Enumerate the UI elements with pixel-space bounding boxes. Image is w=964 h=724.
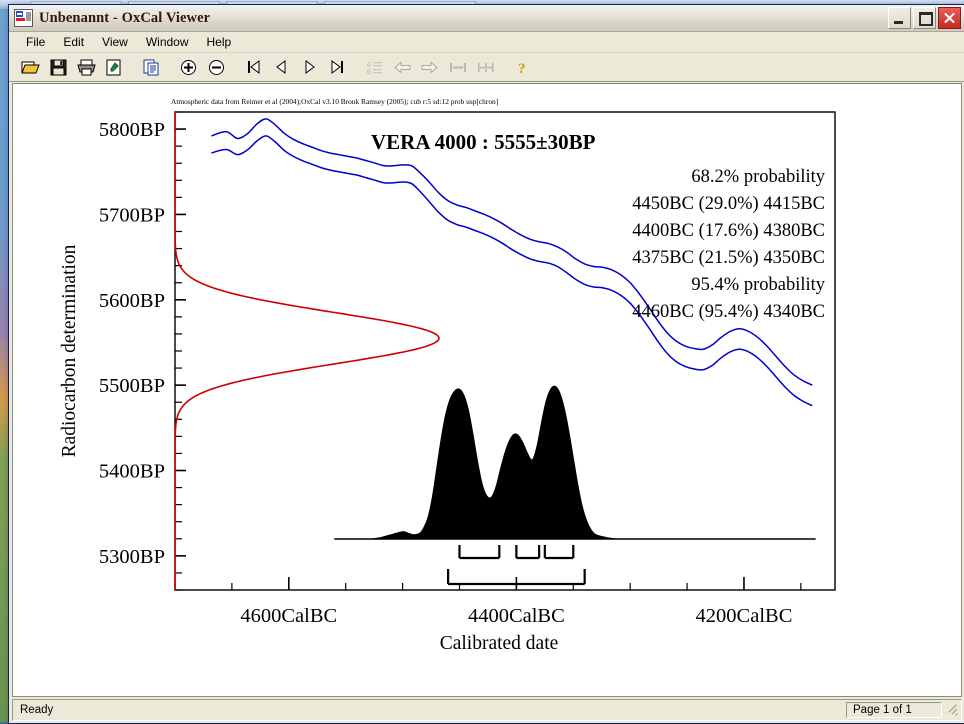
x-axis-tick-label: 4200CalBC [696, 605, 793, 627]
y-axis-tick-label: 5600BP [99, 290, 165, 312]
help-icon: ? [516, 59, 531, 76]
copy-button[interactable] [138, 55, 164, 80]
toolbar: 0 0 [9, 53, 964, 82]
previous-page-button[interactable] [268, 55, 294, 80]
x-axis-title: Calibrated date [440, 633, 559, 654]
minimize-button[interactable] [888, 7, 911, 29]
resize-grip[interactable] [944, 703, 958, 717]
fit-width-button[interactable] [445, 55, 471, 80]
save-button[interactable] [45, 55, 71, 80]
probability-95-header: 95.4% probability [691, 275, 825, 295]
maximize-button[interactable] [913, 7, 936, 29]
zoom-out-icon [208, 59, 225, 76]
probability-68-range-3: 4375BC (21.5%) 4350BC [632, 248, 825, 268]
svg-text:0: 0 [367, 69, 371, 75]
y-axis-tick-label: 5300BP [99, 546, 165, 568]
chart-title: VERA 4000 : 5555±30BP [371, 130, 596, 154]
next-page-icon [302, 59, 317, 75]
menu-window[interactable]: Window [137, 33, 198, 51]
probability-68-range-1: 4450BC (29.0%) 4415BC [632, 194, 825, 214]
zoom-out-button[interactable] [203, 55, 229, 80]
fit-page-button[interactable] [473, 55, 499, 80]
previous-page-icon [274, 59, 289, 75]
first-page-button[interactable] [240, 55, 266, 80]
first-page-icon [246, 59, 261, 75]
x-axis-tick-labels: 4600CalBC4400CalBC4200CalBC [240, 605, 792, 627]
open-folder-icon [21, 59, 40, 76]
status-page-indicator: Page 1 of 1 [846, 702, 942, 718]
oxcal-app-icon [14, 9, 33, 27]
fit-width-icon [449, 61, 467, 74]
open-button[interactable] [17, 55, 43, 80]
y-axis-tick-label: 5700BP [99, 204, 165, 226]
window-title: Unbenannt - OxCal Viewer [39, 10, 210, 27]
svg-text:?: ? [518, 61, 526, 76]
scroll-left-button[interactable] [389, 55, 415, 80]
window-controls [888, 7, 961, 29]
status-message: Ready [13, 703, 846, 717]
menu-help[interactable]: Help [198, 33, 241, 51]
y-axis-title: Radiocarbon determination [59, 244, 80, 457]
print-button[interactable] [73, 55, 99, 80]
table-icon: 0 0 [366, 60, 383, 75]
arrow-left-icon [393, 61, 411, 74]
oxcal-viewer-window: Unbenannt - OxCal Viewer File Edit View … [8, 4, 964, 724]
table-view-button[interactable]: 0 0 [361, 55, 387, 80]
print-icon [77, 59, 96, 76]
close-button[interactable] [938, 7, 961, 29]
zoom-in-button[interactable] [175, 55, 201, 80]
print-preview-icon [106, 59, 122, 76]
oxcal-calibration-chart: Atmospheric data from Reimer et al (2004… [13, 84, 961, 696]
menu-edit[interactable]: Edit [54, 33, 93, 51]
last-page-button[interactable] [324, 55, 350, 80]
oxcal-plot-page: Atmospheric data from Reimer et al (2004… [13, 84, 961, 696]
chart-header-note: Atmospheric data from Reimer et al (2004… [171, 97, 498, 106]
probability-68-range-2: 4400BC (17.6%) 4380BC [632, 221, 825, 241]
fit-page-icon [477, 61, 495, 74]
zoom-in-icon [180, 59, 197, 76]
arrow-right-icon [421, 61, 439, 74]
status-bar: Ready Page 1 of 1 [12, 699, 962, 721]
svg-text:0: 0 [367, 62, 371, 69]
copy-icon [143, 59, 160, 76]
next-page-button[interactable] [296, 55, 322, 80]
y-axis-tick-label: 5800BP [99, 119, 165, 141]
save-floppy-icon [50, 59, 67, 76]
probability-95-range-1: 4460BC (95.4%) 4340BC [632, 302, 825, 322]
y-axis-tick-label: 5400BP [99, 461, 165, 483]
menu-view[interactable]: View [93, 33, 137, 51]
last-page-icon [330, 59, 345, 75]
scroll-right-button[interactable] [417, 55, 443, 80]
probability-68-header: 68.2% probability [691, 167, 825, 187]
print-preview-button[interactable] [101, 55, 127, 80]
y-axis-tick-label: 5500BP [99, 375, 165, 397]
title-bar[interactable]: Unbenannt - OxCal Viewer [9, 5, 964, 32]
document-view[interactable]: Atmospheric data from Reimer et al (2004… [12, 83, 962, 697]
x-axis-tick-label: 4600CalBC [240, 605, 337, 627]
help-button[interactable]: ? [510, 55, 536, 80]
x-axis-tick-label: 4400CalBC [468, 605, 565, 627]
menu-file[interactable]: File [17, 33, 54, 51]
menu-bar: File Edit View Window Help [9, 32, 964, 53]
